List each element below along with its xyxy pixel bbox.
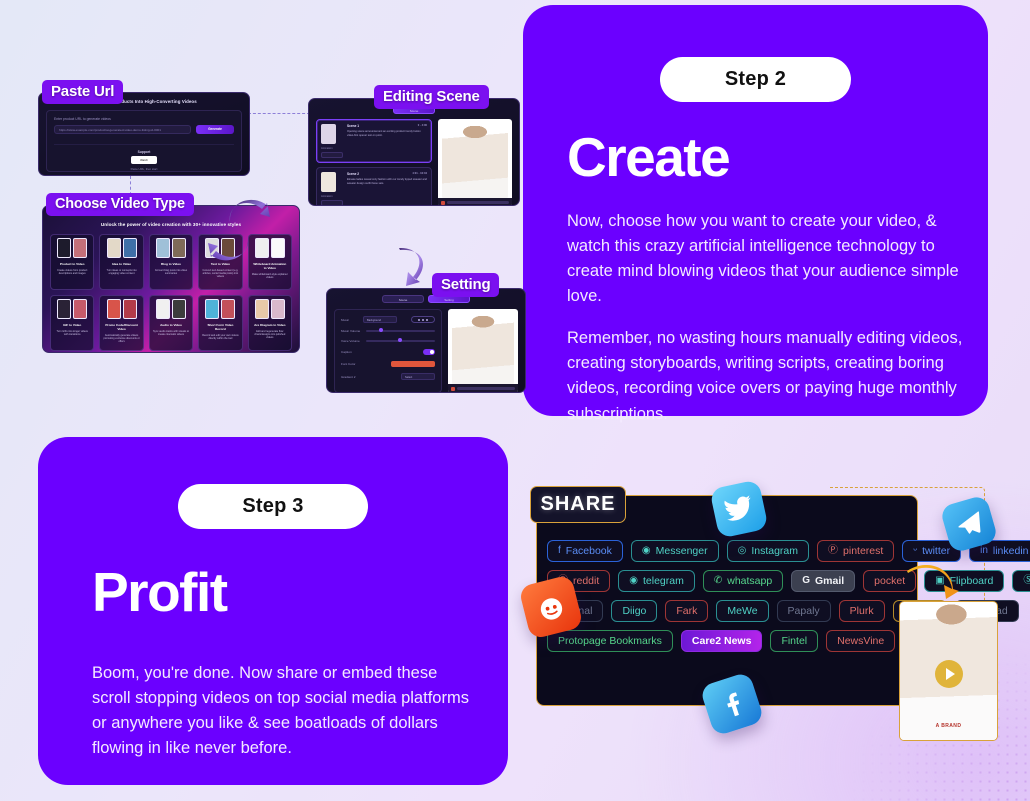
thumbs bbox=[252, 299, 288, 321]
linkedin-icon: in bbox=[980, 546, 988, 556]
share-label-badge: SHARE bbox=[530, 486, 626, 523]
gradient-label: Gradient 2 bbox=[341, 375, 355, 379]
video-type-desc: Create videos from product descriptions … bbox=[54, 269, 90, 276]
play-preview-button[interactable] bbox=[411, 316, 435, 323]
font-color-swatch[interactable] bbox=[391, 361, 435, 367]
voice-volume-slider[interactable] bbox=[366, 340, 435, 342]
share-button-label: Fark bbox=[676, 605, 697, 617]
caption-toggle[interactable] bbox=[423, 349, 435, 355]
setting-controls: Music Background Music Volume Voice Volu… bbox=[334, 309, 442, 393]
scene-thumb-col: Animation bbox=[321, 172, 343, 206]
mockup-editing-scene-panel[interactable]: Scene Animation Scene 1 0 - 4:00 Open bbox=[308, 98, 520, 206]
share-button-newsvine[interactable]: NewsVine bbox=[826, 630, 895, 652]
paste-field-label: Enter product URL to generate videos bbox=[54, 117, 234, 121]
player-controls[interactable] bbox=[438, 198, 512, 206]
share-row: Journal Diigo Fark MeWe Papaly Plurk Ref… bbox=[547, 600, 907, 622]
scene-meta: Scene 2 4:01 - 10:04 Elevate ladies casu… bbox=[347, 172, 427, 206]
share-button-label: telegram bbox=[643, 575, 684, 587]
video-type-title: Promo Code/Discount Video bbox=[103, 324, 139, 332]
music-label: Music bbox=[341, 318, 349, 322]
product-brand-label: A BRAND bbox=[900, 723, 997, 729]
telegram-plane-glyph bbox=[952, 507, 985, 540]
font-color-label: Font Color bbox=[341, 362, 355, 366]
video-preview[interactable] bbox=[448, 309, 518, 393]
paste-panel-inner: Enter product URL to generate videos htt… bbox=[46, 110, 242, 172]
video-type-grid: Product to Video Create videos from prod… bbox=[43, 227, 299, 351]
share-button-protopage-bookmarks[interactable]: Protopage Bookmarks bbox=[547, 630, 673, 652]
reddit-alien-glyph bbox=[532, 588, 571, 627]
scene-thumb-col: Animation bbox=[321, 124, 343, 158]
scene-list: Animation Scene 1 0 - 4:00 Opening scene… bbox=[316, 119, 432, 206]
step-2-paragraph-1: Now, choose how you want to create your … bbox=[567, 209, 983, 309]
step-2-title: Create bbox=[567, 130, 964, 185]
record-icon bbox=[451, 387, 455, 391]
product-video-card[interactable]: A BRAND bbox=[899, 601, 998, 741]
share-button-label: pocket bbox=[874, 575, 905, 587]
support-note: Paste URL, then start bbox=[54, 167, 234, 171]
whatsapp-icon: ✆ bbox=[714, 576, 722, 586]
video-type-card[interactable]: Promo Code/Discount Video Automatically … bbox=[99, 295, 143, 351]
share-row: fFacebook ◉Messenger ◎Instagram Ⓟpintere… bbox=[547, 540, 907, 562]
dashed-connector-horizontal bbox=[248, 113, 310, 114]
video-type-desc: Make whiteboard-style explainer videos bbox=[252, 273, 288, 280]
share-button-label: NewsVine bbox=[837, 635, 884, 647]
video-type-card[interactable]: Blog to Video Convert blog posts into vi… bbox=[149, 234, 193, 290]
voice-volume-label: Voice Volume bbox=[341, 339, 360, 343]
step-2-card: Step 2 Create Now, choose how you want t… bbox=[523, 5, 988, 416]
thumbs bbox=[252, 238, 288, 260]
instagram-icon: ◎ bbox=[738, 546, 747, 556]
animation-label: Animation bbox=[321, 195, 343, 198]
scene-name-row: Scene 1 0 - 4:00 bbox=[347, 124, 427, 128]
video-type-desc: Turn ideas or concepts into engaging vid… bbox=[103, 269, 139, 276]
scene-item[interactable]: Animation Scene 1 0 - 4:00 Opening scene… bbox=[316, 119, 432, 163]
video-type-desc: Convert text-based content (e.g. article… bbox=[202, 269, 238, 279]
setting-row-caption: Caption bbox=[341, 349, 435, 355]
divider bbox=[54, 144, 234, 145]
share-button-label: Diigo bbox=[622, 605, 646, 617]
mock-label-choose-video-type: Choose Video Type bbox=[46, 193, 194, 216]
messenger-icon: ◉ bbox=[642, 546, 651, 556]
share-button-facebook[interactable]: fFacebook bbox=[547, 540, 623, 562]
facebook-icon: f bbox=[558, 546, 561, 556]
setting-row-music-volume: Music Volume bbox=[341, 329, 435, 333]
thumbs bbox=[54, 299, 90, 321]
twitter-icon: ᵕ bbox=[913, 546, 917, 556]
animation-label: Animation bbox=[321, 147, 343, 150]
twitter-bird-glyph bbox=[721, 491, 757, 527]
setting-row-font-color: Font Color bbox=[341, 361, 435, 367]
share-button-label: Protopage Bookmarks bbox=[558, 635, 662, 647]
video-preview[interactable] bbox=[438, 119, 512, 206]
gmail-icon: G bbox=[802, 576, 810, 586]
video-type-card[interactable]: Are Diagram to Video Edit and regenerate… bbox=[248, 295, 292, 351]
video-type-card[interactable]: Whiteboard Animation to Video Make white… bbox=[248, 234, 292, 290]
share-button-mewe[interactable]: MeWe bbox=[716, 600, 768, 622]
video-type-title: Audio to Video bbox=[153, 324, 189, 328]
step-2-paragraph-2: Remember, no wasting hours manually edit… bbox=[567, 326, 983, 426]
share-button-care2-news[interactable]: Care2 News bbox=[681, 630, 763, 652]
product-mockup-collage: Paste Url Turn Your Products Into High-C… bbox=[30, 60, 520, 365]
player-controls[interactable] bbox=[448, 384, 518, 393]
share-button-diigo[interactable]: Diigo bbox=[611, 600, 657, 622]
music-select[interactable]: Background bbox=[363, 316, 397, 323]
video-type-card[interactable]: Product to Video Create videos from prod… bbox=[50, 234, 94, 290]
progress-bar[interactable] bbox=[457, 387, 515, 390]
share-button-fintel[interactable]: Fintel bbox=[770, 630, 818, 652]
scene-meta: Scene 1 0 - 4:00 Opening scene announcem… bbox=[347, 124, 427, 158]
share-button-label: Messenger bbox=[656, 545, 708, 557]
scene-text[interactable]: Elevate ladies casual cozy fashion with … bbox=[347, 178, 427, 185]
video-type-title: Idea to Video bbox=[103, 263, 139, 267]
scene-name: Scene 1 bbox=[347, 124, 359, 128]
record-icon bbox=[441, 201, 445, 205]
animation-select[interactable] bbox=[321, 200, 343, 206]
generate-button[interactable]: Generate bbox=[196, 125, 234, 134]
progress-bar[interactable] bbox=[447, 201, 509, 204]
step-3-paragraph-1: Boom, you're done. Now share or embed th… bbox=[92, 661, 472, 761]
video-type-desc: Turn GIFs into longer videos with transi… bbox=[54, 330, 90, 337]
video-type-card[interactable]: Idea to Video Turn ideas or concepts int… bbox=[99, 234, 143, 290]
thumbs bbox=[202, 238, 238, 260]
video-type-desc: Record and edit your own videos directly… bbox=[202, 334, 238, 341]
video-type-title: Blog to Video bbox=[153, 263, 189, 267]
skype-icon: Ⓢ bbox=[1023, 576, 1030, 586]
share-row: Protopage Bookmarks Care2 News Fintel Ne… bbox=[547, 630, 907, 652]
video-type-title: Whiteboard Animation to Video bbox=[252, 263, 288, 271]
share-button-label: pinterest bbox=[843, 545, 883, 557]
share-button-telegram[interactable]: ◉telegram bbox=[618, 570, 695, 592]
mockup-setting-panel[interactable]: Scene Setting Music Background Music Vol… bbox=[326, 288, 526, 393]
video-type-desc: Sync audio tracks with visuals to create… bbox=[153, 330, 189, 337]
setting-row-music: Music Background bbox=[341, 316, 435, 323]
product-url-input[interactable]: https://www.example.com/product/ai-gener… bbox=[54, 125, 191, 134]
scene-text[interactable]: Opening scene announcement an exciting p… bbox=[347, 130, 427, 137]
support-title: Support bbox=[54, 150, 234, 154]
editing-body: Animation Scene 1 0 - 4:00 Opening scene… bbox=[309, 114, 519, 206]
mock-label-setting: Setting bbox=[432, 273, 499, 297]
share-button-label: Fintel bbox=[781, 635, 807, 647]
scene-time: 0 - 4:00 bbox=[418, 124, 427, 128]
telegram-icon: ◉ bbox=[629, 576, 638, 586]
support-chip[interactable]: Watch bbox=[131, 156, 157, 164]
setting-body: Music Background Music Volume Voice Volu… bbox=[327, 303, 525, 393]
music-volume-label: Music Volume bbox=[341, 329, 360, 333]
scene-item[interactable]: Animation Scene 2 4:01 - 10:04 Elevate l… bbox=[316, 167, 432, 206]
share-row: Ⓡreddit ◉telegram ✆whatsapp GGmail pocke… bbox=[547, 570, 907, 592]
video-type-title: Text to Video bbox=[202, 263, 238, 267]
share-button-instagram[interactable]: ◎Instagram bbox=[727, 540, 809, 562]
play-icon[interactable] bbox=[935, 660, 963, 688]
video-type-desc: Automatically generate videos promoting … bbox=[103, 334, 139, 344]
scene-thumbnail bbox=[321, 124, 336, 144]
share-button-label: Plurk bbox=[850, 605, 874, 617]
share-button-label: Care2 News bbox=[692, 635, 752, 647]
mockup-choose-video-type-panel[interactable]: Unlock the power of video creation with … bbox=[42, 205, 300, 353]
setting-row-voice-volume: Voice Volume bbox=[341, 339, 435, 343]
video-type-card[interactable]: Audio to Video Sync audio tracks with vi… bbox=[149, 295, 193, 351]
music-volume-slider[interactable] bbox=[366, 330, 435, 332]
video-type-title: Short Form Video Record bbox=[202, 324, 238, 332]
scene-time: 4:01 - 10:04 bbox=[412, 172, 427, 176]
share-button-label: reddit bbox=[573, 575, 599, 587]
step-3-title: Profit bbox=[92, 565, 484, 620]
animation-select[interactable] bbox=[321, 152, 343, 158]
share-button-pinterest[interactable]: Ⓟpinterest bbox=[817, 540, 894, 562]
model-figure bbox=[452, 316, 514, 387]
scene-preview-pane bbox=[438, 119, 512, 206]
thumbs bbox=[103, 299, 139, 321]
step-2-badge: Step 2 bbox=[660, 57, 851, 102]
share-button-papaly[interactable]: Papaly bbox=[777, 600, 831, 622]
thumbs bbox=[54, 238, 90, 260]
paste-field-row: https://www.example.com/product/ai-gener… bbox=[54, 125, 234, 134]
thumbs bbox=[103, 238, 139, 260]
thumbs bbox=[153, 238, 189, 260]
mock-label-editing-scene: Editing Scene bbox=[374, 85, 489, 109]
video-type-card[interactable]: Text to Video Convert text-based content… bbox=[198, 234, 242, 290]
setting-row-gradient: Gradient 2 Select bbox=[341, 373, 435, 380]
share-button-label: Facebook bbox=[566, 545, 612, 557]
video-type-desc: Edit and regenerate flow charts/designs … bbox=[252, 330, 288, 340]
mock-label-paste-url: Paste Url bbox=[42, 80, 123, 104]
video-type-title: GIF to Video bbox=[54, 324, 90, 328]
share-button-fark[interactable]: Fark bbox=[665, 600, 708, 622]
share-button-label: Gmail bbox=[815, 575, 844, 587]
caption-label: Caption bbox=[341, 350, 352, 354]
share-button-whatsapp[interactable]: ✆whatsapp bbox=[703, 570, 783, 592]
thumbs bbox=[202, 299, 238, 321]
tab-scene[interactable]: Scene bbox=[382, 295, 424, 303]
video-type-card[interactable]: Short Form Video Record Record and edit … bbox=[198, 295, 242, 351]
video-type-title: Are Diagram to Video bbox=[252, 324, 288, 328]
share-button-label: Instagram bbox=[751, 545, 798, 557]
share-button-label: whatsapp bbox=[727, 575, 772, 587]
share-button-label: MeWe bbox=[727, 605, 757, 617]
share-button-label: twitter bbox=[922, 545, 950, 557]
video-type-desc: Convert blog posts into video summaries bbox=[153, 269, 189, 276]
model-figure bbox=[442, 126, 507, 200]
mockup-paste-url-panel[interactable]: Turn Your Products Into High-Converting … bbox=[38, 92, 250, 176]
share-button-messenger[interactable]: ◉Messenger bbox=[631, 540, 719, 562]
share-button-label: Papaly bbox=[788, 605, 820, 617]
facebook-f-glyph bbox=[713, 685, 751, 723]
scene-name: Scene 2 bbox=[347, 172, 359, 176]
thumbs bbox=[153, 299, 189, 321]
scene-name-row: Scene 2 4:01 - 10:04 bbox=[347, 172, 427, 176]
share-button-skype[interactable]: Ⓢskype bbox=[1012, 570, 1030, 592]
curved-arrow-icon bbox=[394, 246, 434, 290]
share-button-plurk[interactable]: Plurk bbox=[839, 600, 885, 622]
video-type-title: Product to Video bbox=[54, 263, 90, 267]
setting-preview-pane bbox=[448, 309, 518, 393]
share-button-gmail[interactable]: GGmail bbox=[791, 570, 855, 592]
pinterest-icon: Ⓟ bbox=[828, 546, 838, 556]
step-3-card: Step 3 Profit Boom, you're done. Now sha… bbox=[38, 437, 508, 785]
step-3-badge: Step 3 bbox=[178, 484, 368, 529]
share-button-label: linkedin bbox=[993, 545, 1029, 557]
video-type-card[interactable]: GIF to Video Turn GIFs into longer video… bbox=[50, 295, 94, 351]
gradient-select[interactable]: Select bbox=[401, 373, 435, 380]
scene-thumbnail bbox=[321, 172, 336, 192]
